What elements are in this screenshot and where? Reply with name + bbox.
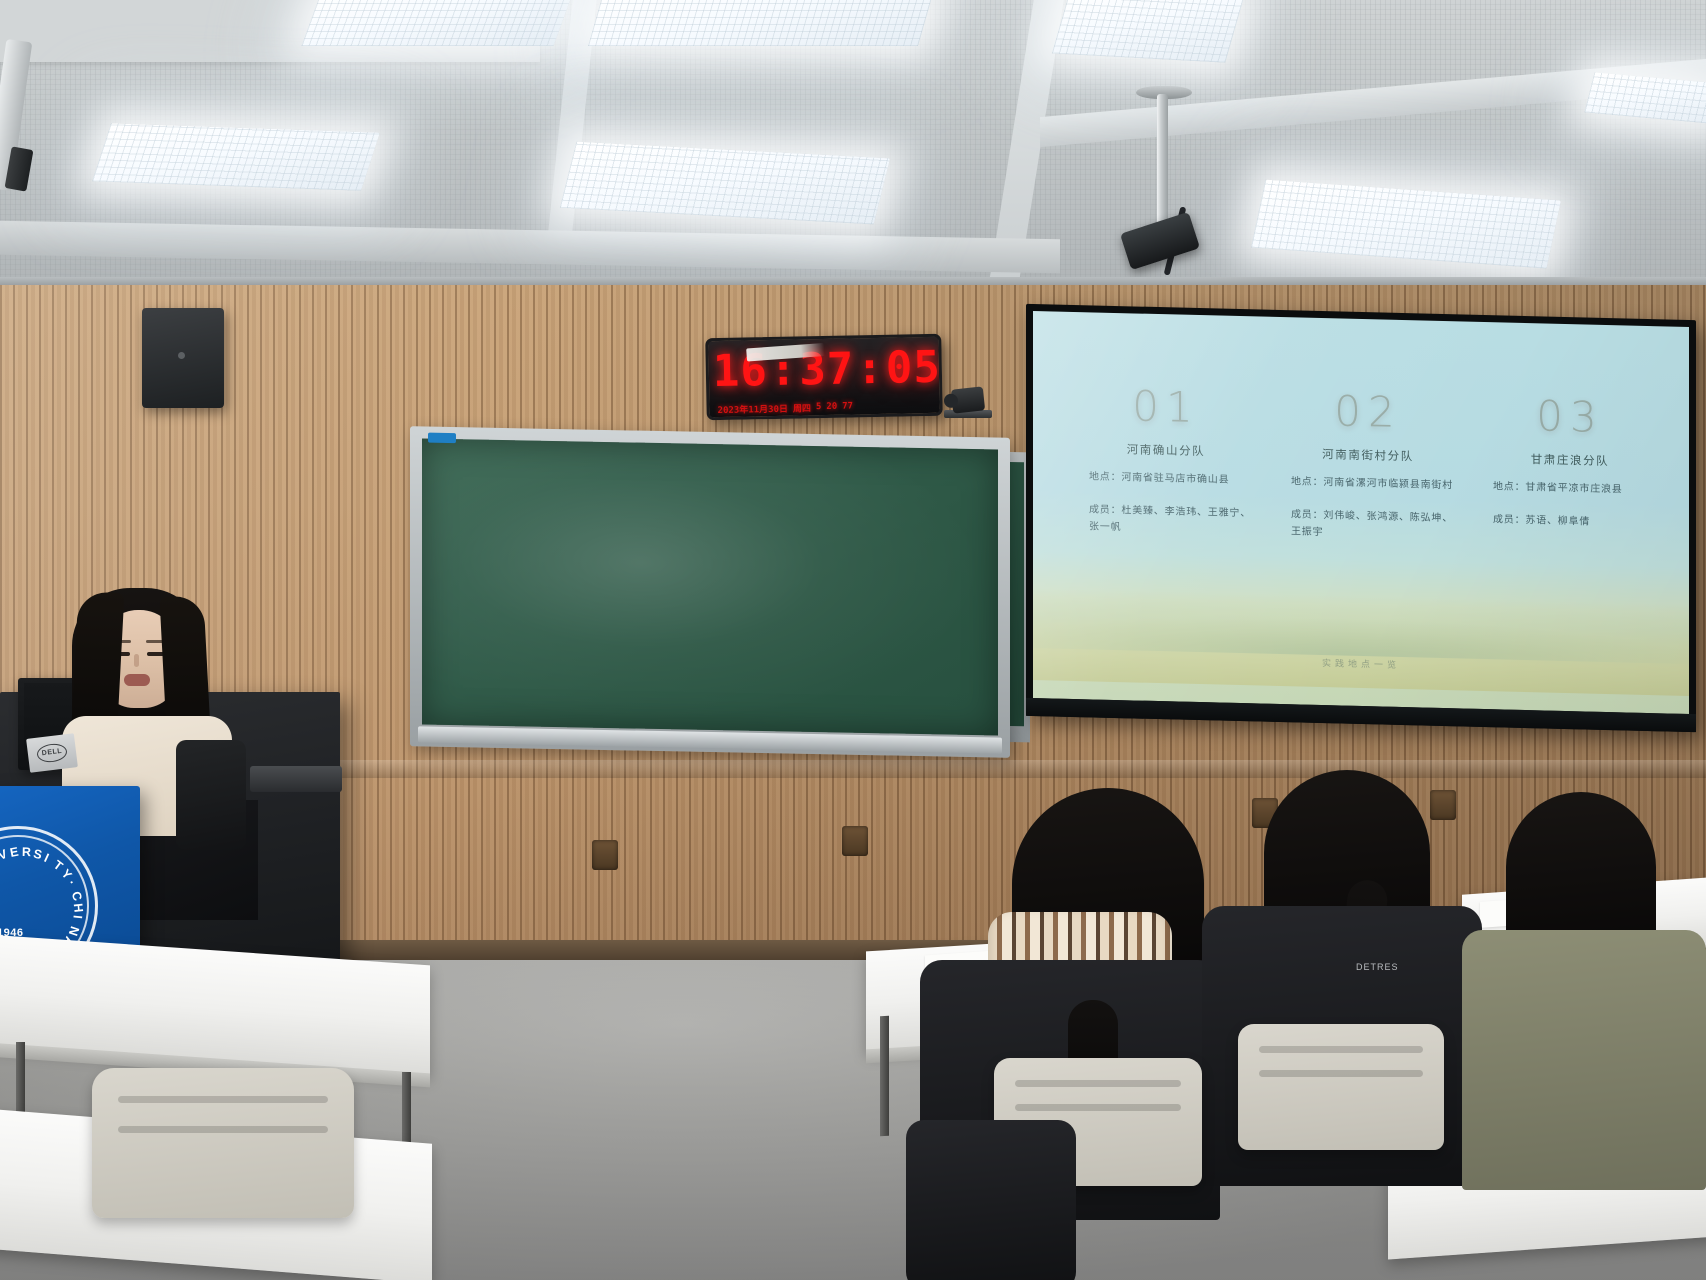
clock-weekday: 周四 [793,401,811,414]
clock-date: 2023年11月30日 [717,401,788,415]
slide-column-number: 02 [1283,389,1453,435]
presenter-shoulder-dark [176,740,246,850]
chair-slot [1015,1104,1181,1111]
wall-socket[interactable] [842,826,868,856]
chair-slot [118,1096,328,1103]
slide-column-title: 甘肃庄浪分队 [1485,450,1655,470]
presenter-mouth [124,674,150,686]
student-1-lower-body [906,1120,1076,1280]
student-3-jacket [1462,930,1706,1190]
desk-leg [880,1016,889,1136]
wall-speaker [142,308,224,408]
slide-column-location: 地点：甘肃省平凉市庄浪县 [1485,478,1655,499]
clock-temperature: 20 [826,402,837,412]
slide-column-number: 03 [1485,394,1655,440]
led-wall-clock: 16 : 37 : 05 2023年11月30日 周四 5 20 77 [705,334,943,421]
student-2-jacket-brand: DETRES [1356,962,1399,972]
chair-3[interactable] [92,1068,354,1218]
clock-date-row: 2023年11月30日 周四 5 20 77 [717,395,939,419]
wall-socket[interactable] [1430,790,1456,820]
chair-slot [1015,1080,1181,1087]
blackboard [410,426,1010,758]
clock-humidity: 77 [842,401,853,411]
wall-camera [951,386,985,413]
slide-surface: 01 河南确山分队 地点：河南省驻马店市确山县 成员：杜美臻、李浩玮、王雅宁、张… [1033,311,1689,714]
ceiling-light [92,123,380,190]
dell-logo-icon: DELL [36,742,68,764]
slide-column-number: 01 [1081,384,1251,430]
slide-column-title: 河南南街村分队 [1283,445,1453,465]
presenter-nose [134,654,139,667]
slide-column-1: 01 河南确山分队 地点：河南省驻马店市确山县 成员：杜美臻、李浩玮、王雅宁、张… [1081,384,1251,618]
chair-slot [118,1126,328,1133]
ceiling-light [588,0,934,46]
projection-screen: 01 河南确山分队 地点：河南省驻马店市确山县 成员：杜美臻、李浩玮、王雅宁、张… [1026,304,1696,732]
clock-seconds: 05 [885,341,941,393]
chair-slot [1259,1070,1424,1077]
clock-extra: 5 [816,402,822,412]
slide-column-members: 成员：杜美臻、李浩玮、王雅宁、张一帆 [1081,501,1251,539]
chair-2[interactable] [1238,1024,1444,1150]
ceiling-light [301,0,574,46]
ceiling [0,0,1706,300]
clock-colon-2: : [856,342,884,394]
slide-column-members: 成员：刘伟峻、张鸿源、陈弘坤、王振宇 [1283,506,1453,544]
projector-pole [1157,94,1168,226]
wall-socket[interactable] [592,840,618,870]
slide-column-3: 03 甘肃庄浪分队 地点：甘肃省平凉市庄浪县 成员：苏语、柳阜倩 [1485,394,1655,628]
chair-slot [1259,1046,1424,1053]
slide-column-2: 02 河南南街村分队 地点：河南省漯河市临颍县南街村 成员：刘伟峻、张鸿源、陈弘… [1283,389,1453,623]
laptop-lid: DELL [26,733,78,773]
ceiling-light [1052,0,1244,63]
slide-column-location: 地点：河南省驻马店市确山县 [1081,468,1251,489]
classroom-photo: 16 : 37 : 05 2023年11月30日 周四 5 20 77 01 [0,0,1706,1280]
blackboard-surface [422,438,998,735]
blackboard-label-tag [428,433,456,444]
lectern-top-shelf [250,766,342,792]
slide-column-title: 河南确山分队 [1081,440,1251,460]
slide-column-location: 地点：河南省漯河市临颍县南街村 [1283,473,1453,494]
speaker-dot [178,352,185,359]
slide-column-members: 成员：苏语、柳阜倩 [1485,511,1655,532]
